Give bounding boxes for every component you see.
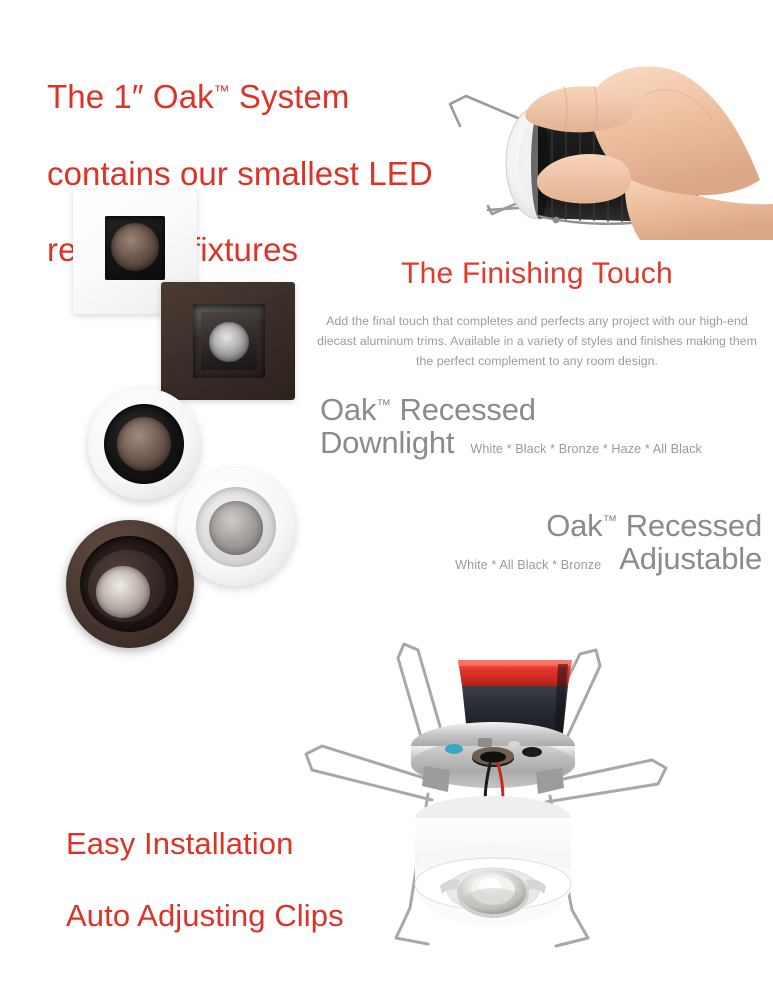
- downlight-title-line-1: Oak™ Recessed: [320, 393, 770, 426]
- marketing-page: The 1″ Oak™ System contains our smallest…: [0, 0, 773, 1000]
- finishing-touch-body: Add the final touch that completes and p…: [313, 312, 761, 372]
- adjustable-lens-module: [457, 870, 529, 918]
- finishing-touch-title: The Finishing Touch: [313, 257, 761, 291]
- trademark-symbol: ™: [602, 513, 617, 529]
- installation-headline-line-1: Easy Installation: [66, 826, 344, 862]
- hand-holding-led-module-image: [430, 0, 773, 240]
- adjustable-title-adjustable: Adjustable: [619, 542, 762, 575]
- fixture-with-auto-adjusting-clips-image: [300, 618, 670, 958]
- downlight-product-block: Oak™ Recessed Downlight White * Black * …: [320, 393, 770, 460]
- downlight-title-downlight: Downlight: [320, 426, 454, 459]
- clip-pivot-bottom: [553, 217, 560, 224]
- adjustable-title-recessed: Recessed: [617, 508, 762, 543]
- downlight-title-recessed: Recessed: [391, 392, 536, 427]
- headline-line-1: The 1″ Oak™ System: [47, 78, 433, 116]
- bronze-round-adjustable-trim: [66, 520, 194, 648]
- downlight-title-line-2-row: Downlight White * Black * Bronze * Haze …: [320, 426, 770, 459]
- adjustable-product-block: Oak™ Recessed White * All Black * Bronze…: [320, 509, 762, 576]
- trademark-symbol: ™: [376, 397, 391, 413]
- adjustable-finish-list: White * All Black * Bronze: [455, 559, 601, 573]
- bronze-square-trim-lens: [209, 322, 249, 362]
- headline-line-2: contains our smallest LED: [47, 155, 433, 193]
- white-square-trim-lens: [111, 223, 159, 271]
- installation-headline-line-2: Auto Adjusting Clips: [66, 898, 344, 934]
- haze-round-trim: [177, 468, 295, 586]
- adjustable-title-line-2-row: White * All Black * Bronze Adjustable: [320, 542, 762, 575]
- downlight-title-oak: Oak: [320, 392, 376, 427]
- installation-headline: Easy Installation Auto Adjusting Clips: [66, 790, 344, 970]
- adjustable-title-oak: Oak: [546, 508, 602, 543]
- bronze-square-trim: [161, 282, 295, 400]
- downlight-finish-list: White * Black * Bronze * Haze * All Blac…: [470, 443, 702, 457]
- headline-line-1-suffix: System: [230, 78, 350, 115]
- haze-round-trim-lens: [209, 501, 263, 555]
- trademark-symbol: ™: [214, 84, 230, 101]
- headline-line-1-text: The 1″ Oak: [47, 78, 214, 115]
- adjustable-title-line-1: Oak™ Recessed: [320, 509, 762, 542]
- bronze-adjustable-lens: [96, 566, 150, 618]
- white-round-trim-lens: [117, 417, 171, 471]
